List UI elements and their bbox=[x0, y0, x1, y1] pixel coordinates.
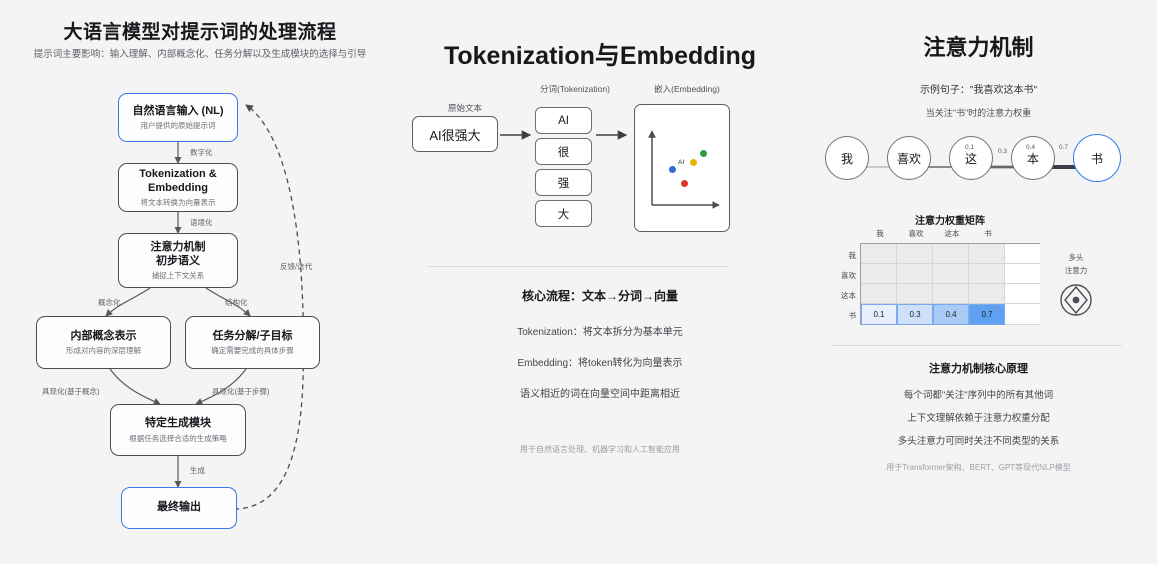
flow-node-concept-title: 内部概念表示 bbox=[71, 330, 137, 344]
flow-node-output[interactable]: 最终输出 bbox=[121, 487, 237, 529]
flow-node-input[interactable]: 自然语言输入 (NL) 用户提供的原始提示词 bbox=[118, 93, 238, 142]
attention-matrix: 我 喜欢 这本 书 我 喜欢 这本 书 bbox=[800, 0, 1157, 564]
flow-node-input-title: 自然语言输入 (NL) bbox=[132, 105, 223, 119]
token-bullet-1: Embedding：将token转化为向量表示 bbox=[400, 354, 800, 369]
flow-node-tokenization-embedding[interactable]: Tokenization & Embedding 将文本转换为向量表示 bbox=[118, 163, 238, 212]
matrix-row-0: 我 bbox=[822, 250, 856, 261]
attention-principles-title: 注意力机制核心原理 bbox=[800, 360, 1157, 376]
attention-weight-1: 0.3 bbox=[998, 148, 1007, 155]
token-box-1[interactable]: 很 bbox=[535, 138, 592, 165]
attention-token-0[interactable]: 我 bbox=[825, 136, 869, 180]
matrix-cell bbox=[897, 284, 933, 304]
attention-divider bbox=[832, 345, 1122, 346]
token-bullet-0: Tokenization：将文本拆分为基本单元 bbox=[400, 323, 800, 338]
flow-node-attn-desc: 捕捉上下文关系 bbox=[152, 271, 205, 280]
token-footnote: 用于自然语言处理、机器学习和人工智能应用 bbox=[400, 444, 800, 455]
slide-board: 大语言模型对提示词的处理流程 提示词主要影响：输入理解、内部概念化、任务分解以及… bbox=[0, 0, 1157, 564]
matrix-row-2: 这本 bbox=[822, 290, 856, 301]
matrix-row-1: 喜欢 bbox=[822, 270, 856, 281]
attention-token-4[interactable]: 书 bbox=[1073, 134, 1121, 182]
flow-edge-label-generate: 生成 bbox=[190, 465, 205, 476]
matrix-grid[interactable]: 0.1 0.3 0.4 0.7 bbox=[860, 243, 1040, 325]
caption-embedding: 嵌入(Embedding) bbox=[622, 83, 752, 95]
panel-llm-flow: 大语言模型对提示词的处理流程 提示词主要影响：输入理解、内部概念化、任务分解以及… bbox=[0, 0, 400, 564]
matrix-cell bbox=[969, 264, 1005, 284]
attention-token-1[interactable]: 喜欢 bbox=[887, 136, 931, 180]
matrix-cell bbox=[933, 244, 969, 264]
attention-weight-0: 0.1 bbox=[965, 144, 974, 151]
flow-node-tokemb-title1: Tokenization & bbox=[139, 168, 216, 182]
attention-weight-3: 0.7 bbox=[1059, 144, 1068, 151]
attention-token-2[interactable]: 这 bbox=[949, 136, 993, 180]
matrix-active-cell-0: 0.1 bbox=[861, 304, 897, 325]
flow-node-tokemb-title2: Embedding bbox=[148, 182, 208, 196]
matrix-col-2: 这本 bbox=[934, 228, 970, 239]
matrix-cell bbox=[1005, 284, 1040, 304]
flow-node-concept-desc: 形成对内容的深层理解 bbox=[66, 346, 141, 355]
matrix-active-cell-2: 0.4 bbox=[933, 304, 969, 325]
token-divider bbox=[426, 266, 728, 267]
matrix-active-cell-1: 0.3 bbox=[897, 304, 933, 325]
panel-tokenization-embedding: Tokenization与Embedding 原始文本 分词(Tokenizat… bbox=[400, 0, 800, 564]
matrix-cell bbox=[897, 264, 933, 284]
flow-node-gen-desc: 根据任务选择合适的生成策略 bbox=[129, 434, 227, 443]
arrow-source-to-tokens bbox=[500, 126, 538, 144]
embedding-axes bbox=[635, 105, 731, 233]
attention-principle-1: 上下文理解依赖于注意力权重分配 bbox=[800, 410, 1157, 424]
matrix-cell bbox=[933, 264, 969, 284]
attention-principle-0: 每个词都"关注"序列中的所有其他词 bbox=[800, 387, 1157, 401]
flow-edge-label-structure: 结构化 bbox=[225, 297, 248, 308]
flow-node-input-desc: 用户提供的原始提示词 bbox=[141, 121, 216, 130]
matrix-cell bbox=[969, 284, 1005, 304]
flow-node-task-decomposition[interactable]: 任务分解/子目标 确定需要完成的具体步骤 bbox=[185, 316, 320, 369]
flowchart: 自然语言输入 (NL) 用户提供的原始提示词 Tokenization & Em… bbox=[0, 0, 400, 564]
flow-edge-label-feedback: 反馈/迭代 bbox=[280, 261, 312, 272]
matrix-cell bbox=[1005, 244, 1040, 264]
source-text-box[interactable]: AI很强大 bbox=[412, 116, 498, 152]
flow-edge-label-contextualize: 语境化 bbox=[190, 217, 213, 228]
matrix-cell bbox=[933, 284, 969, 304]
matrix-cell bbox=[969, 244, 1005, 264]
matrix-col-1: 喜欢 bbox=[898, 228, 934, 239]
flow-node-output-title: 最终输出 bbox=[157, 501, 201, 515]
flow-node-tokemb-desc: 将文本转换为向量表示 bbox=[141, 198, 216, 207]
flow-node-attention[interactable]: 注意力机制 初步语义 捕捉上下文关系 bbox=[118, 233, 238, 288]
flow-node-task-desc: 确定需要完成的具体步骤 bbox=[211, 346, 294, 355]
matrix-row-3: 书 bbox=[822, 310, 856, 321]
matrix-cell bbox=[1005, 264, 1040, 284]
token-box-2[interactable]: 强 bbox=[535, 169, 592, 196]
attention-principle-2: 多头注意力可同时关注不同类型的关系 bbox=[800, 433, 1157, 447]
flow-node-attn-title1: 注意力机制 bbox=[151, 241, 206, 255]
matrix-active-cell-3: 0.7 bbox=[969, 304, 1005, 325]
flow-edge-label-digitize: 数字化 bbox=[190, 147, 213, 158]
flow-node-gen-title: 特定生成模块 bbox=[145, 417, 211, 431]
flow-node-attn-title2: 初步语义 bbox=[156, 255, 200, 269]
token-box-0[interactable]: AI bbox=[535, 107, 592, 134]
embedding-plot[interactable]: AI bbox=[634, 104, 730, 232]
token-title: Tokenization与Embedding bbox=[400, 36, 800, 72]
token-core-title: 核心流程：文本→分词→向量 bbox=[400, 287, 800, 304]
token-bullet-2: 语义相近的词在向量空间中距离相近 bbox=[400, 385, 800, 400]
arrow-tokens-to-embedding bbox=[596, 126, 634, 144]
flow-edge-label-embody-steps: 具现化(基于步骤) bbox=[212, 386, 270, 397]
matrix-cell bbox=[861, 264, 897, 284]
matrix-cell bbox=[1005, 304, 1040, 325]
multihead-label-line2: 注意力 bbox=[1045, 266, 1107, 276]
embedding-dot-blue bbox=[669, 166, 676, 173]
matrix-cell bbox=[897, 244, 933, 264]
matrix-cell bbox=[861, 244, 897, 264]
token-box-3[interactable]: 大 bbox=[535, 200, 592, 227]
matrix-col-3: 书 bbox=[970, 228, 1006, 239]
flow-node-generation[interactable]: 特定生成模块 根据任务选择合适的生成策略 bbox=[110, 404, 246, 456]
caption-source-text: 原始文本 bbox=[420, 102, 510, 114]
matrix-col-0: 我 bbox=[862, 228, 898, 239]
matrix-cell bbox=[861, 284, 897, 304]
attention-token-3[interactable]: 本 bbox=[1011, 136, 1055, 180]
embedding-dot-label-ai: AI bbox=[678, 159, 684, 166]
multihead-label-line1: 多头 bbox=[1045, 253, 1107, 263]
attention-footnote: 用于Transformer架构、BERT、GPT等现代NLP模型 bbox=[800, 462, 1157, 473]
flow-edge-label-conceptualize: 概念化 bbox=[98, 297, 121, 308]
embedding-dot-red bbox=[681, 180, 688, 187]
flow-edge-label-embody-concept: 具现化(基于概念) bbox=[42, 386, 100, 397]
flow-node-task-title: 任务分解/子目标 bbox=[212, 330, 292, 344]
attention-weight-2: 0.4 bbox=[1026, 144, 1035, 151]
embedding-dot-yellow bbox=[690, 159, 697, 166]
flow-node-concept[interactable]: 内部概念表示 形成对内容的深层理解 bbox=[36, 316, 171, 369]
panel-attention: 注意力机制 示例句子："我喜欢这本书" 当关注"书"时的注意力权重 我 喜欢 这… bbox=[800, 0, 1157, 564]
embedding-dot-green bbox=[700, 150, 707, 157]
multihead-attention-icon bbox=[1058, 282, 1094, 318]
